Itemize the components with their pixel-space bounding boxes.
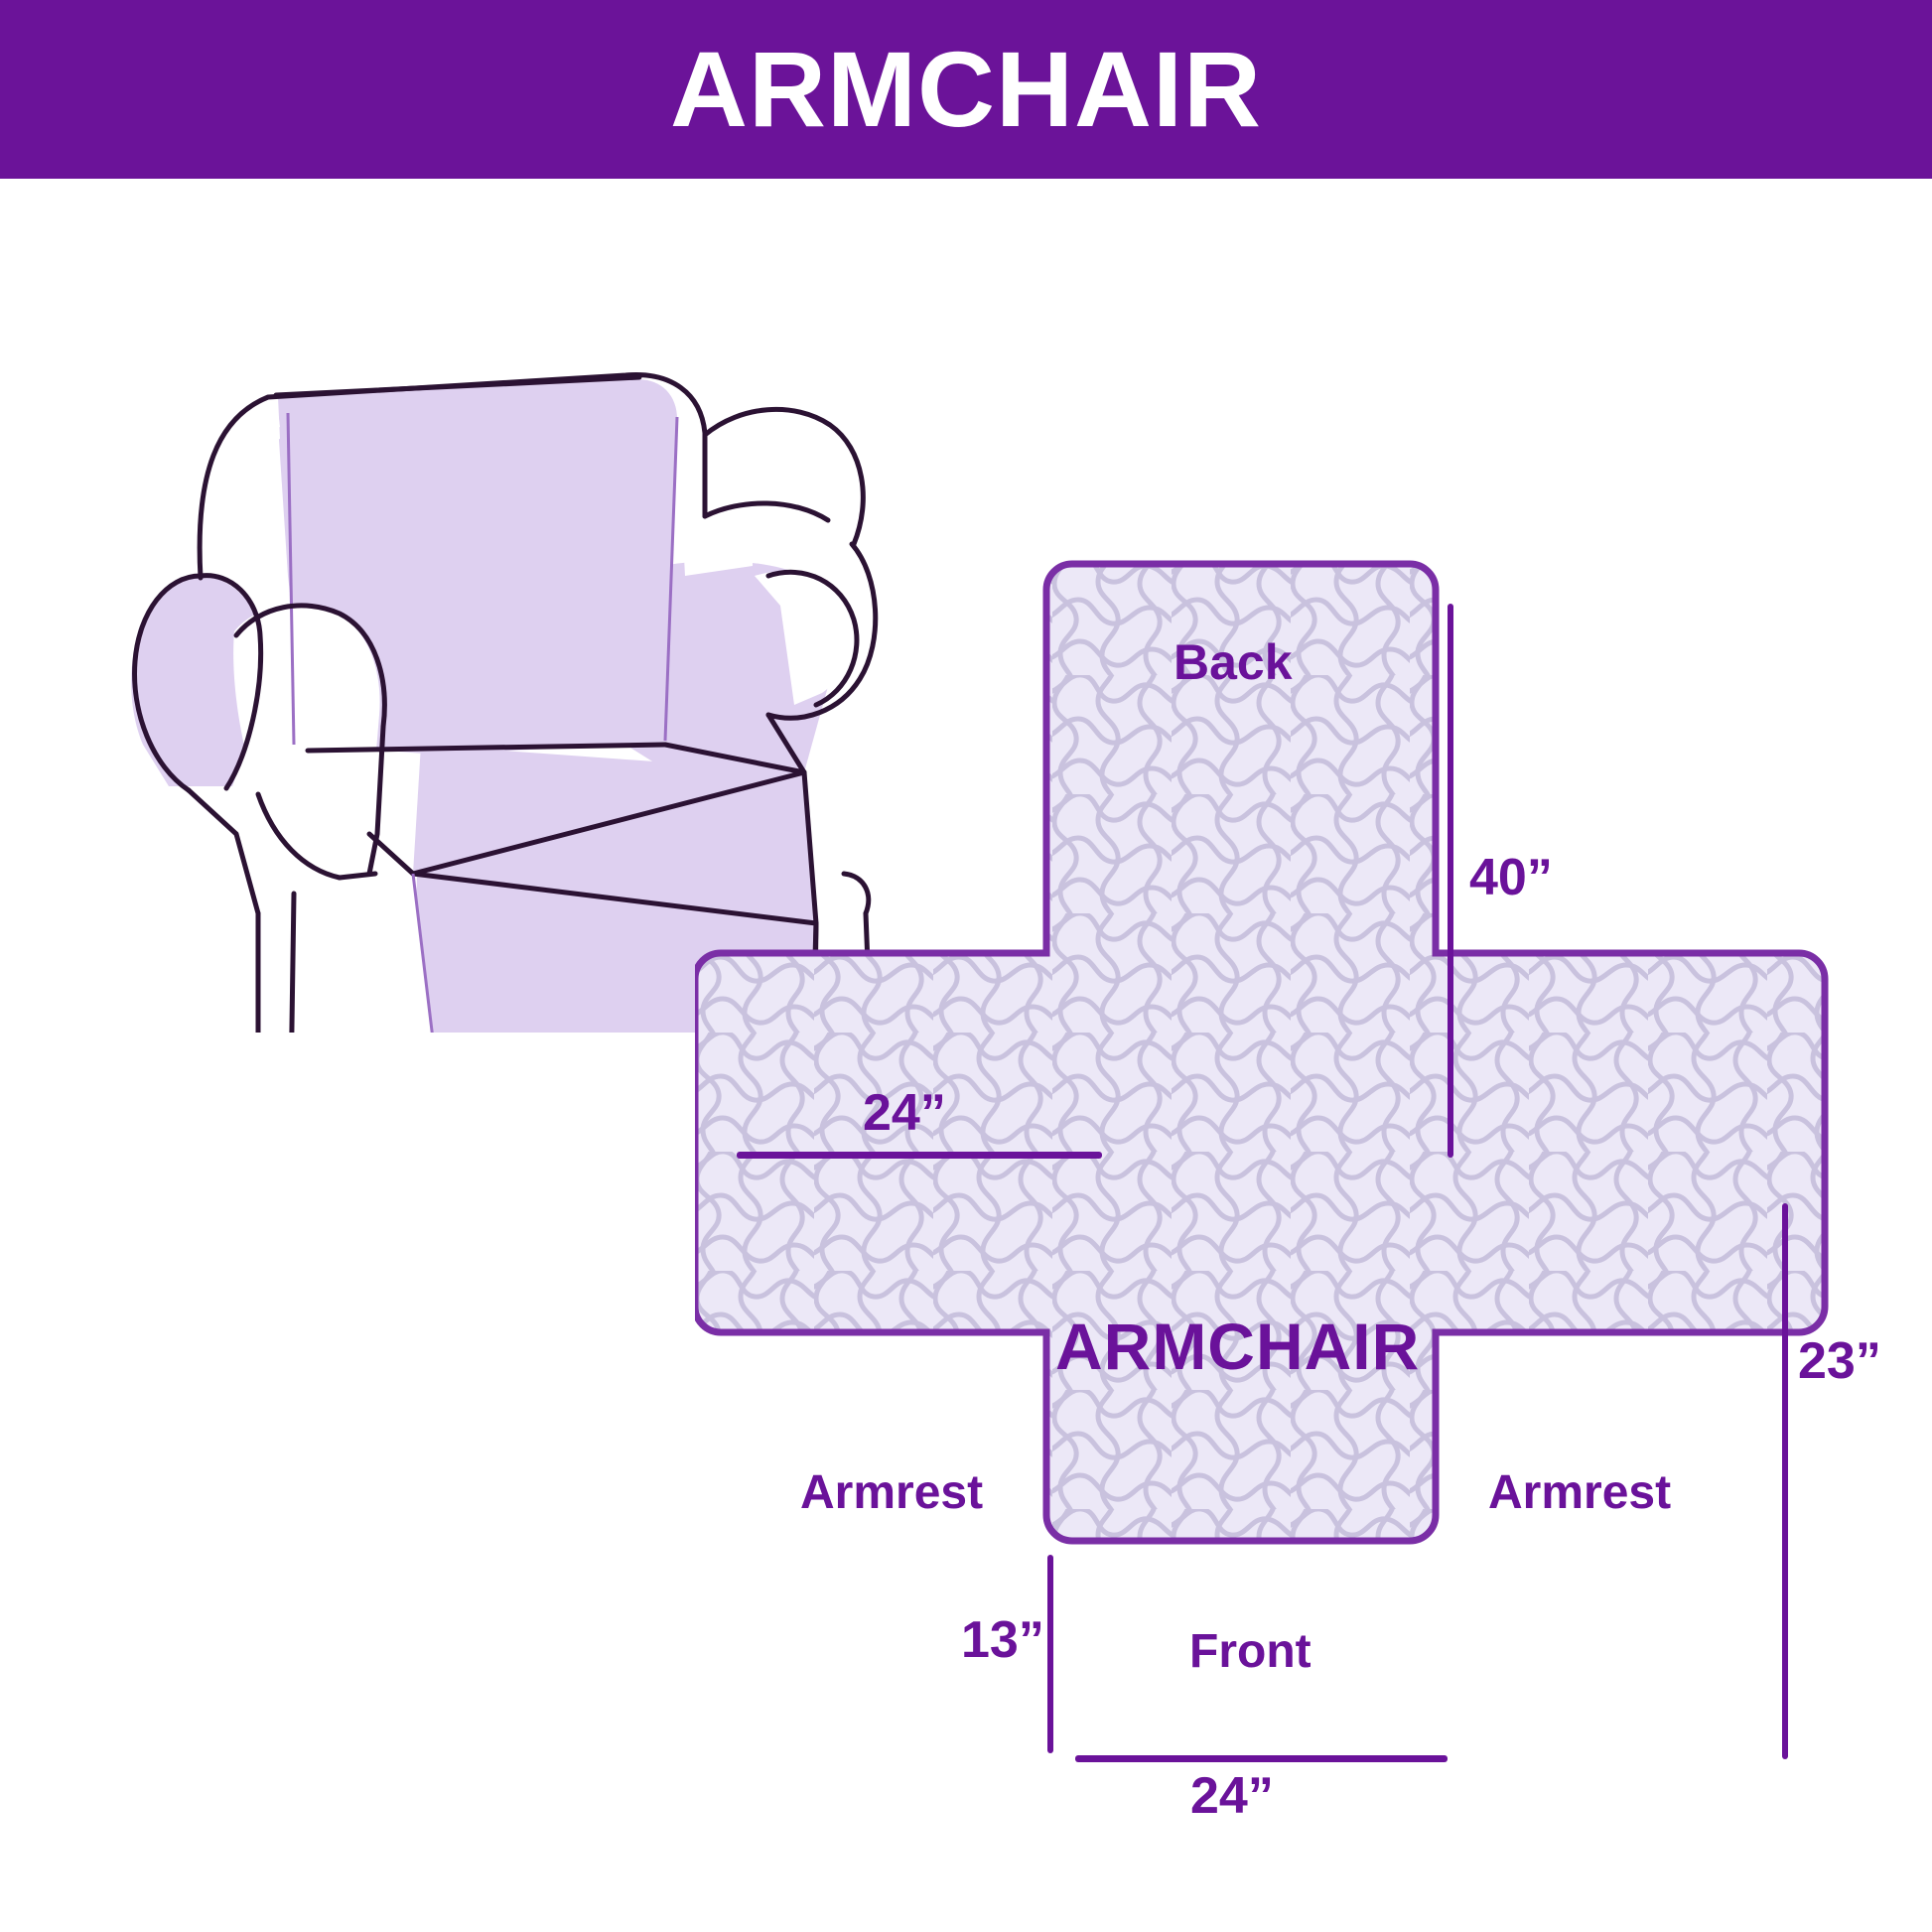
page-title: ARMCHAIR	[670, 36, 1262, 143]
panel-label-front: Front	[1189, 1628, 1311, 1676]
panel-label-back: Back	[1173, 637, 1293, 687]
cover-center-label: ARMCHAIR	[1055, 1313, 1420, 1379]
product-dimension-infographic: ARMCHAIR .cov { fill:#ded0f0; } .wht { f…	[0, 0, 1932, 1932]
dimension-line-back-height	[1448, 604, 1453, 1158]
header-banner: ARMCHAIR	[0, 0, 1932, 179]
dimension-label-front-width: 24”	[1190, 1770, 1274, 1822]
dimension-label-back-height: 40”	[1469, 852, 1553, 903]
dimension-line-front-height	[1047, 1555, 1053, 1753]
panel-label-armrest-right: Armrest	[1488, 1469, 1671, 1517]
panel-label-armrest-left: Armrest	[800, 1469, 983, 1517]
dimension-line-cross-height	[1782, 1203, 1788, 1759]
dimension-label-cross-height: 23”	[1798, 1335, 1881, 1387]
dimension-label-armrest-width: 24”	[863, 1087, 946, 1139]
dimension-label-front-height: 13”	[961, 1614, 1044, 1666]
dimension-line-armrest-width	[737, 1152, 1102, 1159]
dimension-line-front-width	[1075, 1755, 1448, 1762]
